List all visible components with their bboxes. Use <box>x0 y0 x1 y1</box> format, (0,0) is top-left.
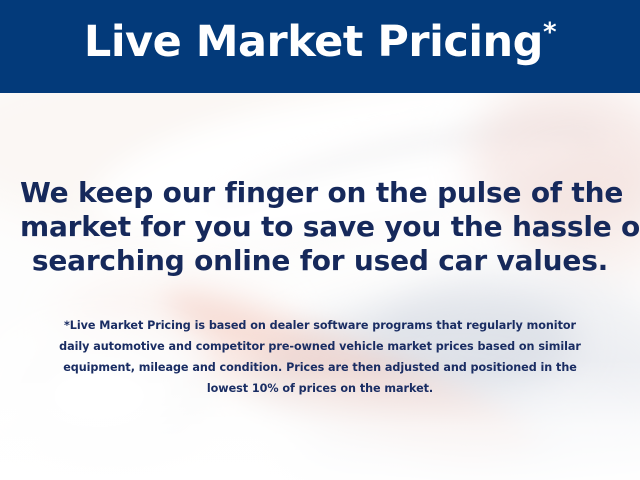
disclaimer-text: *Live Market Pricing is based on dealer … <box>25 315 615 399</box>
disclaimer-line-3: equipment, mileage and condition. Prices… <box>25 357 615 378</box>
headline-line-1: We keep our finger on the pulse of the <box>20 176 620 210</box>
live-market-pricing-banner: Live Market Pricing* We keep our finger … <box>0 0 640 480</box>
disclaimer-line-2: daily automotive and competitor pre-owne… <box>25 336 615 357</box>
page-title: Live Market Pricing* <box>0 13 640 71</box>
headline-line-2: market for you to save you the hassle of <box>20 210 620 244</box>
disclaimer-line-1: *Live Market Pricing is based on dealer … <box>25 315 615 336</box>
headline-line-3: searching online for used car values. <box>20 244 620 278</box>
page-title-asterisk: * <box>543 18 556 48</box>
disclaimer-line-4: lowest 10% of prices on the market. <box>25 378 615 399</box>
car-photo-background <box>0 93 640 480</box>
page-title-text: Live Market Pricing <box>84 17 543 67</box>
headline: We keep our finger on the pulse of the m… <box>20 176 620 278</box>
header-band: Live Market Pricing* <box>0 0 640 93</box>
